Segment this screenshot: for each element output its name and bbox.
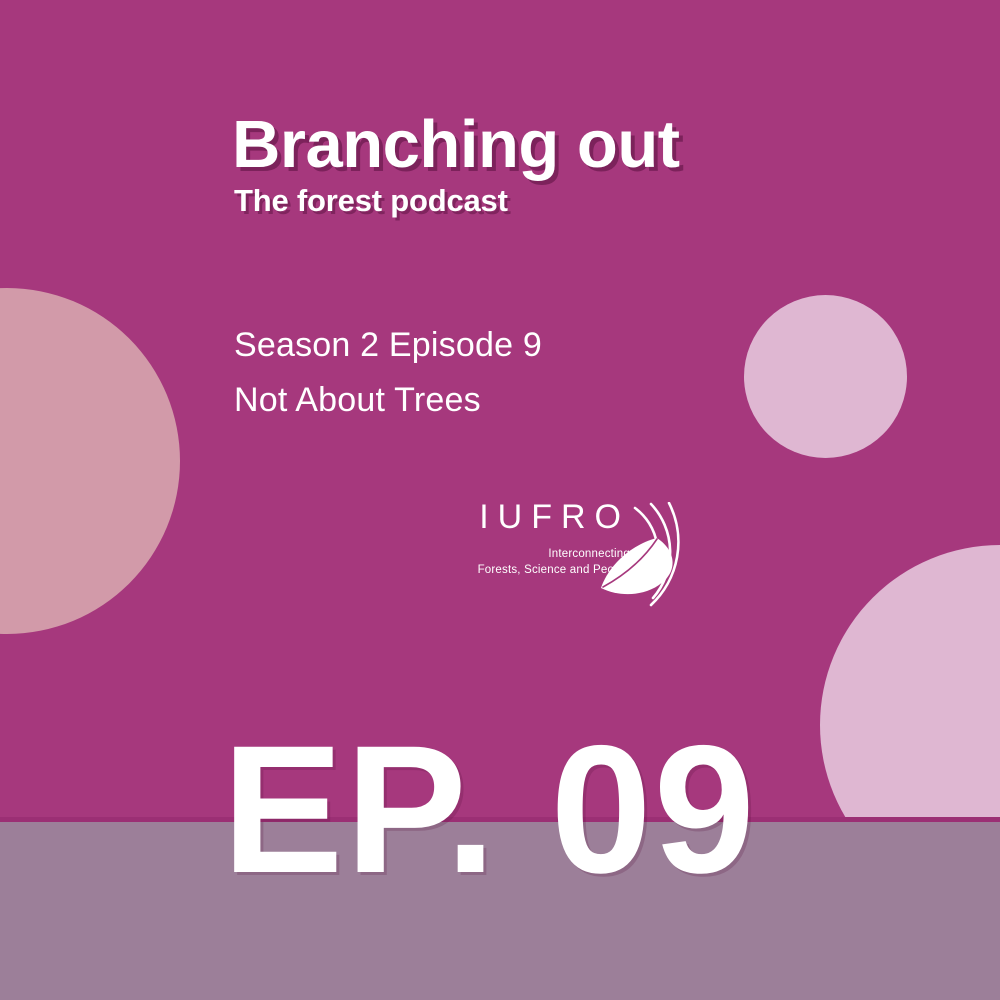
episode-info-block: Season 2 Episode 9 Not About Trees [234, 318, 542, 428]
pink-circle-top-right-decoration [744, 295, 907, 458]
episode-number-label: EP. 09 [222, 718, 757, 900]
podcast-cover-artwork: Branching out The forest podcast Season … [0, 0, 1000, 1000]
episode-season-line: Season 2 Episode 9 [234, 318, 542, 373]
episode-title-line: Not About Trees [234, 373, 542, 428]
rose-circle-left-decoration [0, 288, 180, 634]
iufro-logo: IUFRO Interconnecting Forests, Science a… [455, 500, 755, 610]
iufro-leaf-arcs-icon [595, 502, 745, 610]
podcast-title: Branching out [232, 110, 680, 180]
podcast-subtitle: The forest podcast [234, 184, 680, 218]
title-block: Branching out The forest podcast [232, 110, 680, 218]
